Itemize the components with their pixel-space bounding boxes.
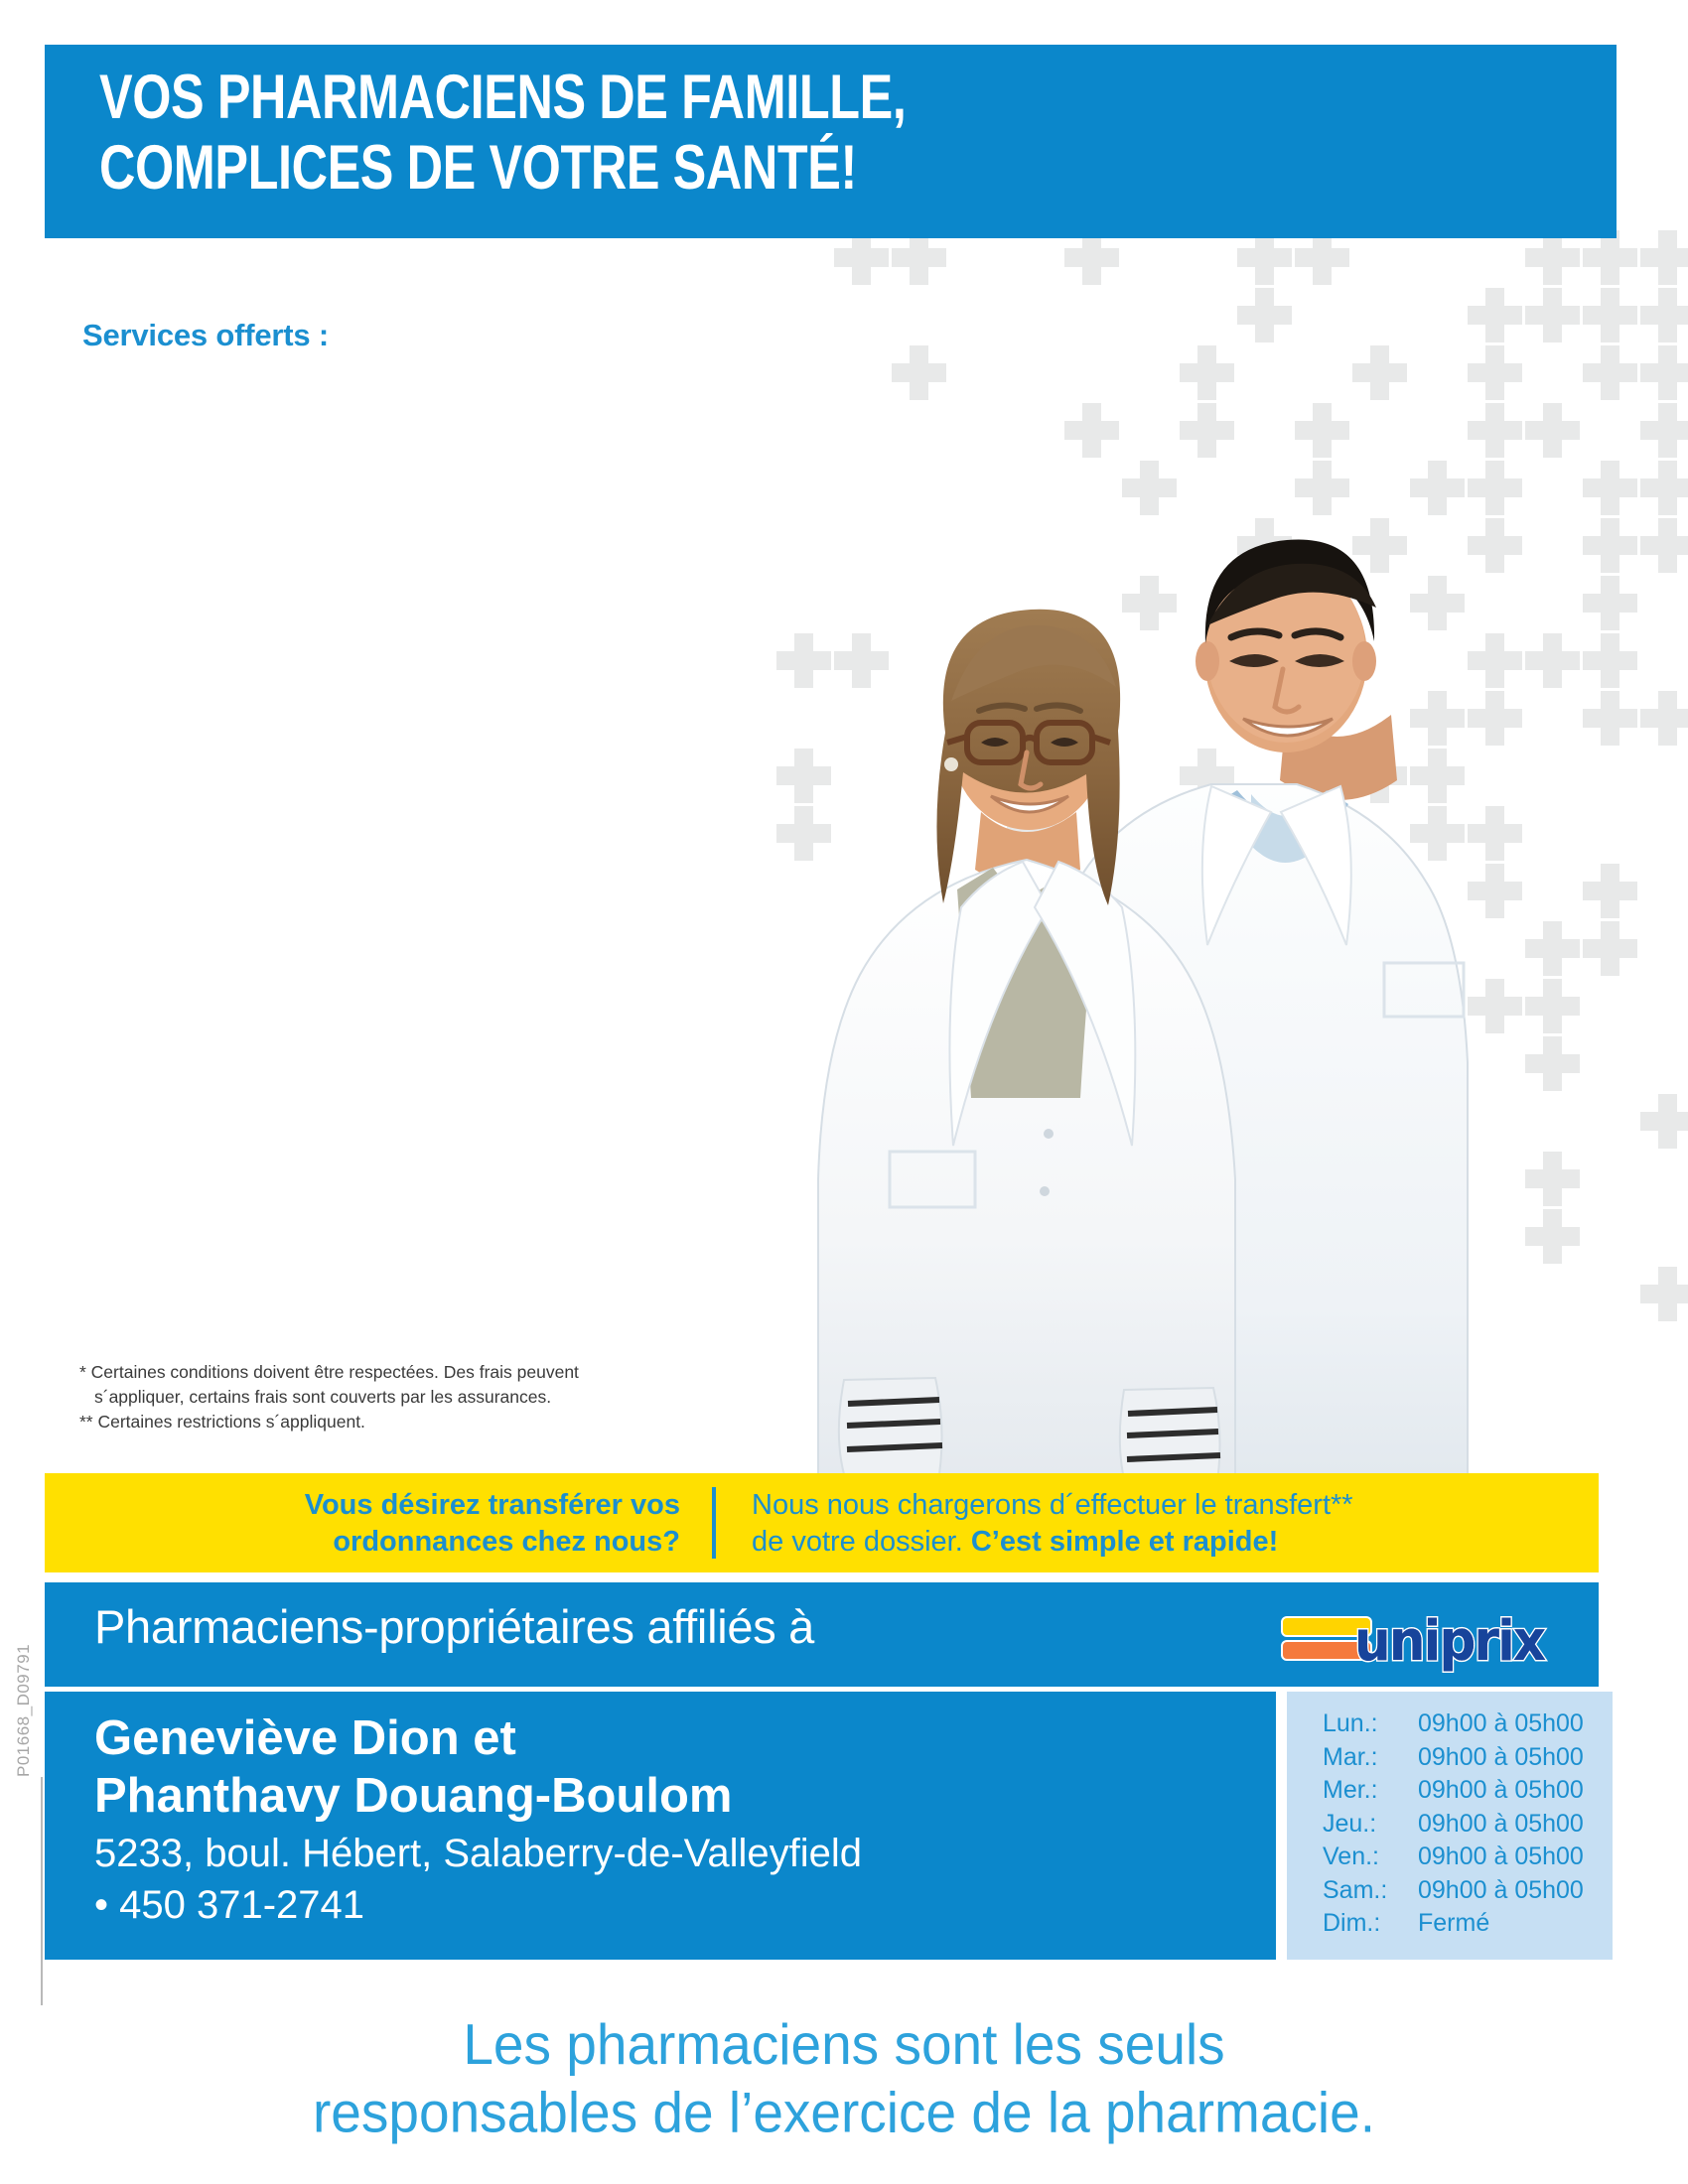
transfer-question: Vous désirez transférer vos ordonnances … [213,1487,680,1561]
plus-icon [1485,403,1504,458]
transfer-question-line-1: Vous désirez transférer vos [213,1487,680,1524]
plus-icon [1601,691,1619,746]
hours-time-value: 09h00 à 05h00 [1418,1808,1584,1842]
plus-icon [1485,345,1504,400]
vertical-divider [712,1487,716,1559]
transfer-answer-line-1: Nous nous chargerons d´effectuer le tran… [752,1487,1536,1524]
hours-row: Mer.:09h00 à 05h00 [1323,1774,1584,1808]
opening-hours-table: Lun.:09h00 à 05h00Mar.:09h00 à 05h00Mer.… [1323,1707,1584,1941]
plus-icon [1601,345,1619,400]
pharmacy-info-panel: Geneviève Dion et Phanthavy Douang-Boulo… [45,1692,1276,1960]
pharmacist-names: Geneviève Dion et Phanthavy Douang-Boulo… [94,1709,1187,1825]
print-code-label: P01668_D09791 [14,1644,34,1777]
plus-icon [1601,864,1619,918]
footnotes: * Certaines conditions doivent être resp… [79,1360,715,1434]
hours-time-value: 09h00 à 05h00 [1418,1841,1584,1874]
plus-icon [910,345,928,400]
plus-icon [1601,518,1619,573]
plus-icon [1313,403,1332,458]
services-offered-label: Services offerts : [82,318,329,353]
hours-time-value: 09h00 à 05h00 [1418,1774,1584,1808]
hours-day-label: Ven.: [1323,1841,1418,1874]
plus-icon [1255,288,1274,342]
legal-tagline: Les pharmaciens sont les seuls responsab… [0,2010,1688,2146]
uniprix-wordmark: uniprix [1354,1609,1544,1674]
page-title: VOS PHARMACIENS DE FAMILLE, COMPLICES DE… [99,63,1211,204]
hours-time-value: 09h00 à 05h00 [1418,1874,1584,1908]
plus-icon [1601,461,1619,515]
pharmacy-phone[interactable]: • 450 371-2741 [94,1880,364,1930]
transfer-question-line-2: ordonnances chez nous? [213,1524,680,1561]
hours-day-label: Sam.: [1323,1874,1418,1908]
poster-root: VOS PHARMACIENS DE FAMILLE, COMPLICES DE… [0,0,1688,2184]
plus-icon [1658,345,1677,400]
female-pharmacist-figure [818,610,1235,1489]
plus-icon [1601,921,1619,976]
hours-row: Sam.:09h00 à 05h00 [1323,1874,1584,1908]
transfer-answer-line-2: de votre dossier. C’est simple et rapide… [752,1524,1536,1561]
plus-icon [1658,288,1677,342]
plus-icon [1658,691,1677,746]
footnote-line-3: ** Certaines restrictions s´appliquent. [79,1410,715,1434]
uniprix-logo[interactable]: uniprix uniprix [1281,1612,1569,1668]
plus-icon [1543,288,1562,342]
pharmacy-address: 5233, boul. Hébert, Salaberry-de-Valleyf… [94,1829,862,1878]
hours-day-label: Jeu.: [1323,1808,1418,1842]
hours-day-label: Mar.: [1323,1741,1418,1775]
prescription-transfer-banner: Vous désirez transférer vos ordonnances … [45,1473,1599,1572]
hours-row: Dim.:Fermé [1323,1907,1584,1941]
plus-icon [1658,461,1677,515]
hours-row: Lun.:09h00 à 05h00 [1323,1707,1584,1741]
transfer-answer: Nous nous chargerons d´effectuer le tran… [752,1487,1536,1561]
plus-icon [1658,1267,1677,1321]
plus-icon [1197,345,1216,400]
hours-day-label: Lun.: [1323,1707,1418,1741]
plus-icon [1658,1094,1677,1149]
affiliation-label: Pharmaciens-propriétaires affiliés à [94,1599,814,1654]
plus-icon [1370,345,1389,400]
plus-icon [1658,230,1677,285]
plus-icon [1601,633,1619,688]
plus-icon [1485,288,1504,342]
hours-time-value: Fermé [1418,1907,1489,1941]
hours-time-value: 09h00 à 05h00 [1418,1741,1584,1775]
pharmacists-photo [695,467,1589,1489]
opening-hours-panel: Lun.:09h00 à 05h00Mar.:09h00 à 05h00Mer.… [1287,1692,1613,1960]
hours-day-label: Dim.: [1323,1907,1418,1941]
footnote-line-1: * Certaines conditions doivent être resp… [79,1360,715,1385]
hours-day-label: Mer.: [1323,1774,1418,1808]
plus-icon [1601,288,1619,342]
hours-row: Mar.:09h00 à 05h00 [1323,1741,1584,1775]
plus-icon [1658,518,1677,573]
side-rule-divider [41,1777,43,2005]
plus-icon [1197,403,1216,458]
hours-row: Ven.:09h00 à 05h00 [1323,1841,1584,1874]
header-banner: VOS PHARMACIENS DE FAMILLE, COMPLICES DE… [45,45,1617,238]
plus-icon [1543,403,1562,458]
hours-time-value: 09h00 à 05h00 [1418,1707,1584,1741]
plus-icon [1658,403,1677,458]
plus-icon [1601,576,1619,630]
footnote-line-2: s´appliquer, certains frais sont couvert… [79,1385,715,1410]
transfer-answer-lead: de votre dossier. [752,1526,971,1558]
plus-icon [1082,403,1101,458]
hours-row: Jeu.:09h00 à 05h00 [1323,1808,1584,1842]
transfer-answer-emphasis: C’est simple et rapide! [971,1526,1278,1558]
